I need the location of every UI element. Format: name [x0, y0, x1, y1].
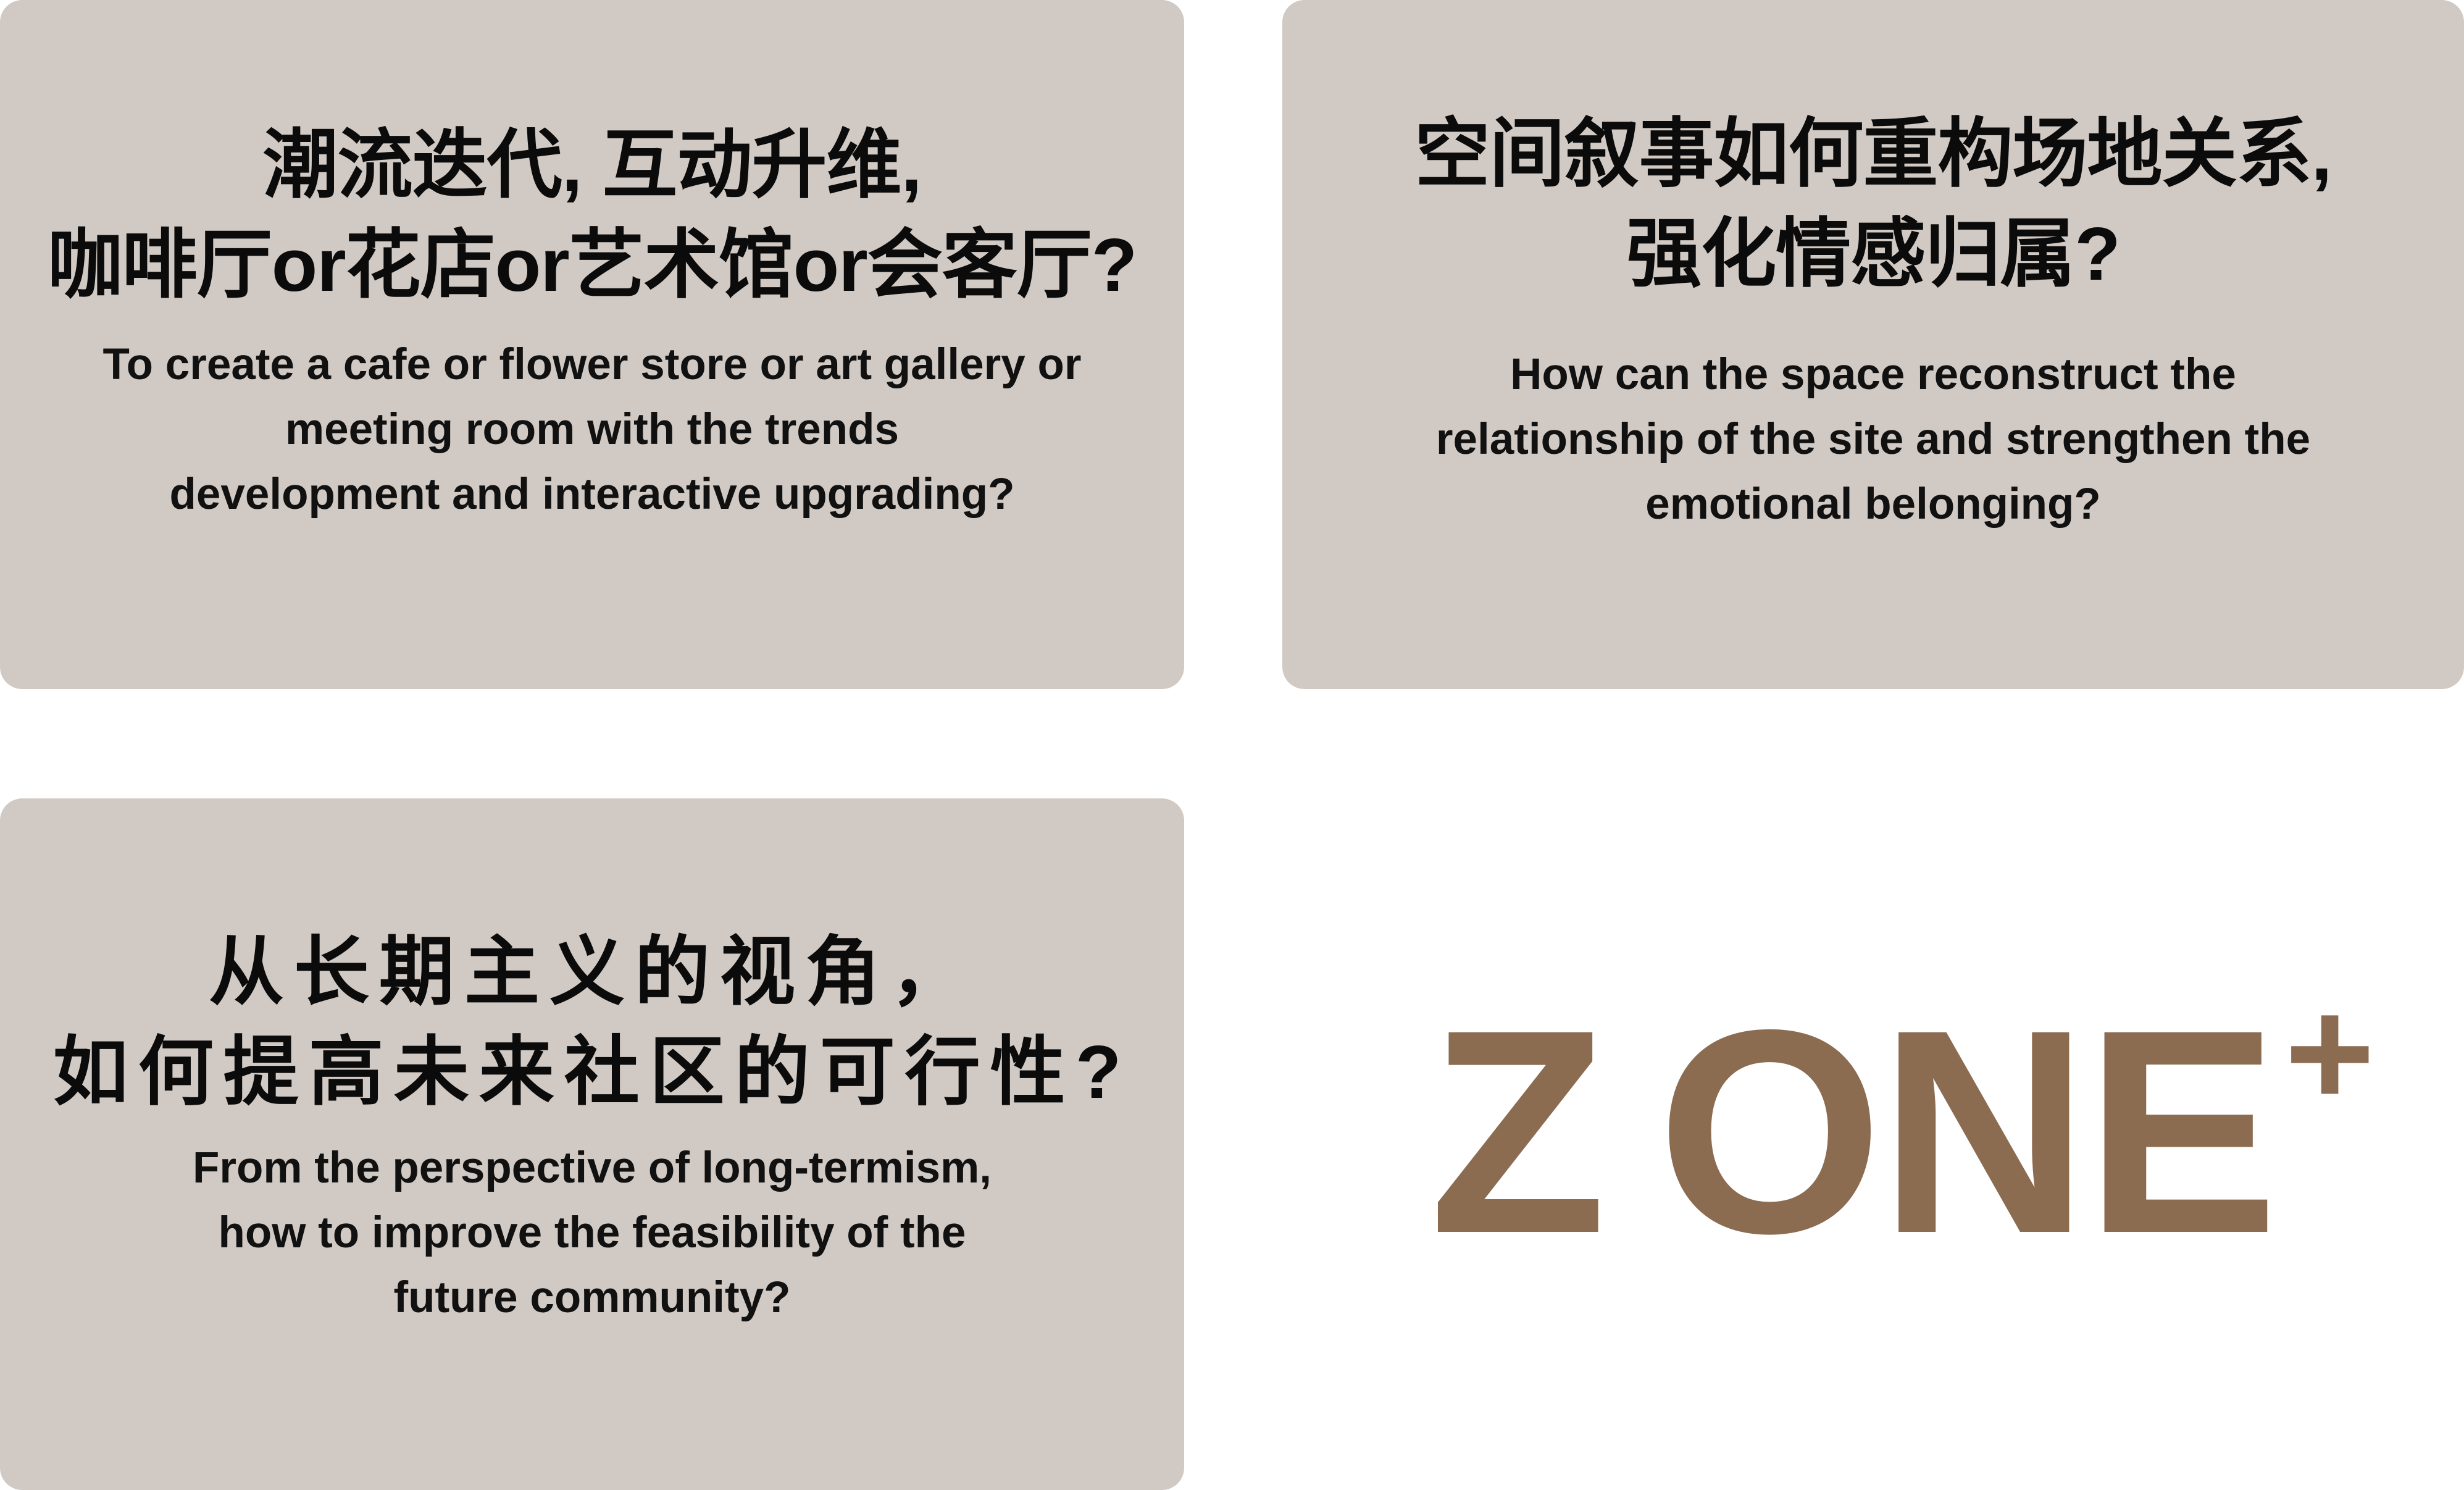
logo-plus-icon: +: [2285, 976, 2375, 1130]
logo-letter-z: Z: [1429, 987, 1603, 1277]
card-trend-heading-cn: 潮流迭代, 互动升维, 咖啡厅or花店or艺术馆or会客厅?: [48, 0, 1137, 315]
card-space-heading-cn: 空间叙事如何重构场地关系, 强化情感归属?: [1415, 0, 2332, 304]
card-longterm-heading-cn: 从长期主义的视角， 如何提高未来社区的可行性?: [53, 798, 1132, 1122]
zone-plus-logo: Z ONE +: [1429, 987, 2375, 1277]
card-trend-subtitle-en: To create a cafe or flower store or art …: [103, 315, 1082, 527]
card-spatial-narrative[interactable]: 空间叙事如何重构场地关系, 强化情感归属? How can the space …: [1282, 0, 2464, 689]
card-space-subtitle-en: How can the space reconstruct the relati…: [1436, 304, 2310, 537]
card-long-termism[interactable]: 从长期主义的视角， 如何提高未来社区的可行性? From the perspec…: [0, 798, 1184, 1490]
poster-canvas: 潮流迭代, 互动升维, 咖啡厅or花店or艺术馆or会客厅? To create…: [0, 0, 2464, 1490]
card-longterm-subtitle-en: From the perspective of long-termism, ho…: [193, 1122, 992, 1330]
logo-word-one: ONE: [1657, 987, 2275, 1277]
brand-logo-area: Z ONE +: [1282, 798, 2464, 1490]
card-trend-iteration[interactable]: 潮流迭代, 互动升维, 咖啡厅or花店or艺术馆or会客厅? To create…: [0, 0, 1184, 689]
